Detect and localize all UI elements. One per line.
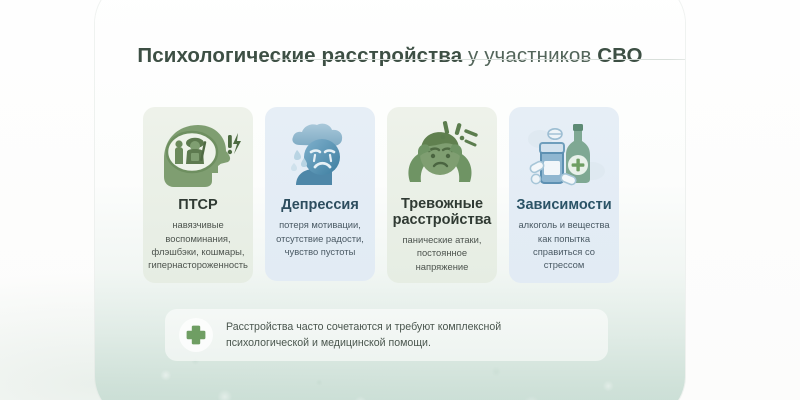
card-title-ptsr: ПТСР	[178, 197, 217, 213]
card-addiction[interactable]: Зависимости алкоголь и вещества как попы…	[509, 107, 619, 283]
medical-cross-icon	[179, 318, 213, 352]
card-title-anxiety: Тревожные расстройства	[391, 196, 493, 228]
desc-line: флэшбэки, кошмары,	[151, 246, 244, 257]
summary-note: Расстройства часто сочетаются и требуют …	[165, 309, 608, 361]
summary-note-text: Расстройства часто сочетаются и требуют …	[226, 319, 501, 351]
card-desc-ptsr: навязчивые воспоминания, флэшбэки, кошма…	[146, 218, 250, 271]
card-ptsr[interactable]: ПТСР навязчивые воспоминания, флэшбэки, …	[143, 107, 253, 283]
bottle-pills-icon	[518, 117, 610, 193]
card-title-line: расстройства	[393, 212, 492, 228]
note-line-1: Расстройства часто сочетаются и требуют …	[226, 319, 501, 335]
desc-line: алкоголь и вещества	[518, 219, 609, 230]
desc-line: чувство пустоты	[285, 246, 356, 257]
card-depression[interactable]: Депрессия потеря мотивации, отсутствие р…	[265, 107, 375, 281]
card-title-addiction: Зависимости	[516, 197, 611, 213]
desc-line: гипернастороженность	[148, 259, 248, 270]
sad-face-rain-cloud-icon	[274, 117, 366, 193]
page-title-light: у участников	[462, 44, 597, 67]
desc-line: воспоминания,	[165, 233, 230, 244]
desc-line: панические атаки,	[402, 234, 481, 245]
head-in-hands-anxiety-icon	[396, 117, 488, 192]
card-desc-anxiety: панические атаки, постоянное напряжение	[391, 233, 493, 273]
desc-line: постоянное напряжение	[416, 247, 469, 271]
page-title-strong-1: Психологические расстройства	[137, 44, 462, 67]
page-title-strong-2: СВО	[597, 44, 642, 67]
card-desc-depression: потеря мотивации, отсутствие радости, чу…	[269, 218, 371, 258]
desc-line: как попытка	[538, 233, 590, 244]
desc-line: навязчивые	[172, 219, 223, 230]
desc-line: отсутствие радости,	[276, 233, 364, 244]
page-title: Психологические расстройства у участнико…	[95, 44, 685, 68]
disorder-card-list: ПТСР навязчивые воспоминания, флэшбэки, …	[143, 107, 621, 283]
title-divider	[245, 59, 685, 60]
infographic-root: Психологические расстройства у участнико…	[0, 0, 800, 400]
note-line-2: психологической и медицинской помощи.	[226, 335, 501, 351]
head-soldier-flashback-icon	[152, 117, 244, 193]
card-title-line: Тревожные	[401, 196, 483, 212]
card-desc-addiction: алкоголь и вещества как попытка справить…	[513, 218, 615, 271]
desc-line: справиться со стрессом	[533, 246, 595, 270]
desc-line: потеря мотивации,	[279, 219, 361, 230]
header: Психологические расстройства у участнико…	[95, 44, 685, 68]
card-title-depression: Депрессия	[281, 197, 359, 213]
card-anxiety[interactable]: Тревожные расстройства панические атаки,…	[387, 107, 497, 283]
